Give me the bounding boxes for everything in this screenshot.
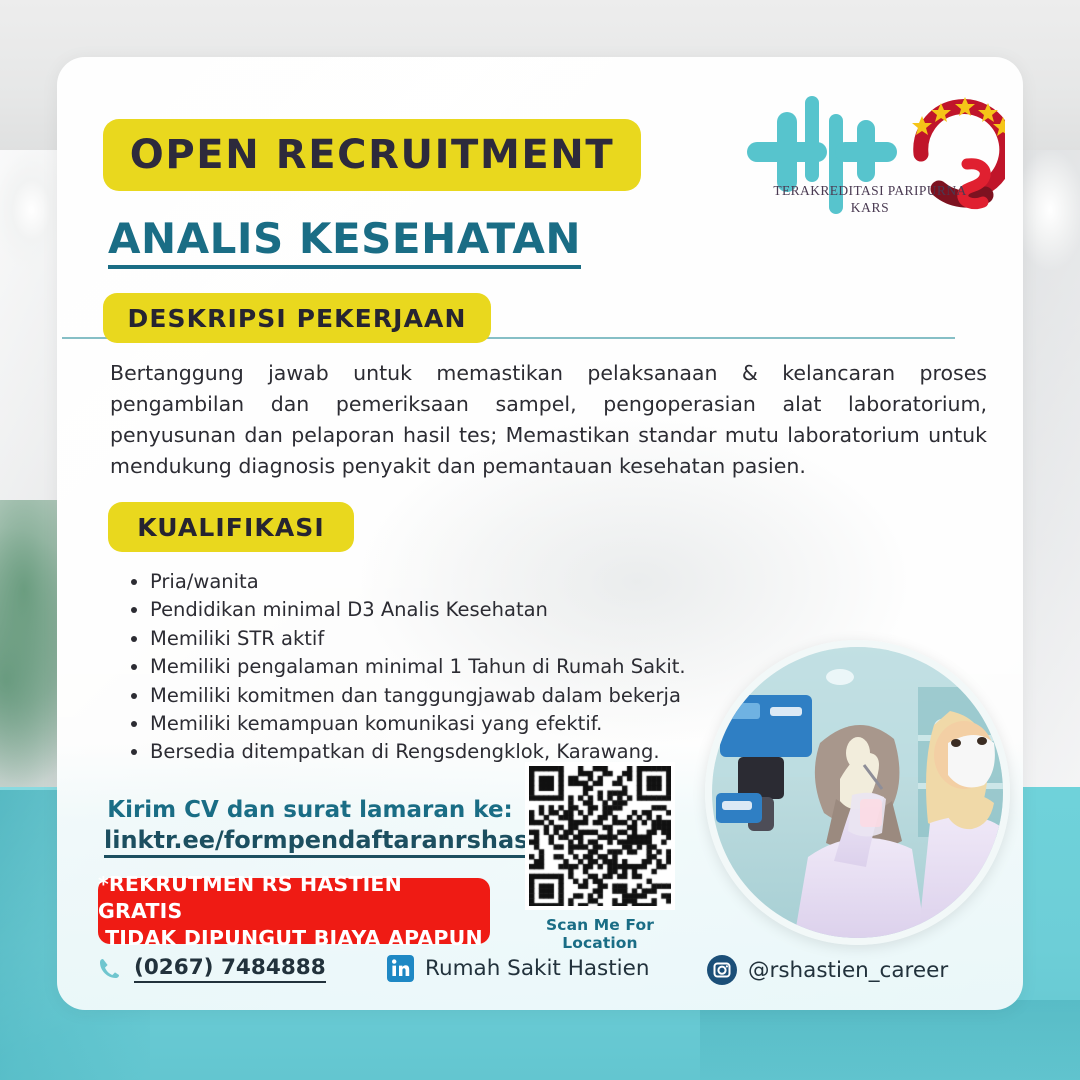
warning-line2: TIDAK DIPUNGUT BIAYA APAPUN	[105, 925, 483, 952]
apply-link[interactable]: linktr.ee/formpendaftaranrshastien	[104, 826, 516, 854]
linkedin-icon	[387, 955, 414, 982]
warning-line1: *REKRUTMEN RS HASTIEN GRATIS	[98, 871, 490, 925]
open-recruitment-label: OPEN RECRUITMENT	[130, 132, 614, 178]
lab-photo-illustration	[712, 647, 1004, 939]
footer-instagram-handle: @rshastien_career	[748, 958, 948, 983]
qualifications-badge: KUALIFIKASI	[108, 502, 354, 552]
open-recruitment-badge: OPEN RECRUITMENT	[103, 119, 641, 191]
footer-linkedin-name: Rumah Sakit Hastien	[425, 956, 650, 981]
recruitment-poster: OPEN RECRUITMENT ANALIS KESEHATAN	[0, 0, 1080, 1080]
footer-phone[interactable]: (0267) 7484888	[97, 955, 326, 983]
page-title: ANALIS KESEHATAN	[108, 214, 581, 269]
qualifications-badge-label: KUALIFIKASI	[137, 513, 325, 542]
list-item: Memiliki komitmen dan tanggungjawab dala…	[126, 682, 766, 710]
apply-instruction: Kirim CV dan surat lamaran ke:	[104, 797, 516, 823]
footer-linkedin[interactable]: Rumah Sakit Hastien	[387, 955, 650, 982]
description-badge: DESKRIPSI PEKERJAAN	[103, 293, 491, 343]
qualifications-list: Pria/wanitaPendidikan minimal D3 Analis …	[126, 568, 766, 767]
footer-phone-number: (0267) 7484888	[134, 955, 326, 983]
list-item: Memiliki STR aktif	[126, 625, 766, 653]
footer-instagram[interactable]: @rshastien_career	[707, 955, 948, 985]
apply-link-text: linktr.ee/formpendaftaranrshastien	[104, 826, 582, 858]
instagram-icon	[707, 955, 737, 985]
kars-caption-line2: KARS	[735, 200, 1005, 217]
background-ceiling-light-right	[1015, 150, 1080, 270]
qr-code-canvas	[529, 766, 671, 906]
kars-caption-line1: TERAKREDITASI PARIPURNA	[735, 183, 1005, 200]
description-badge-label: DESKRIPSI PEKERJAAN	[127, 304, 466, 333]
free-recruitment-warning: *REKRUTMEN RS HASTIEN GRATIS TIDAK DIPUN…	[98, 878, 490, 944]
list-item: Pria/wanita	[126, 568, 766, 596]
list-item: Memiliki kemampuan komunikasi yang efekt…	[126, 710, 766, 738]
qr-caption: Scan Me For Location	[520, 916, 680, 952]
background-teal-shadow	[700, 1000, 1080, 1080]
kars-caption: TERAKREDITASI PARIPURNA KARS	[735, 183, 1005, 217]
lab-technicians-photo	[705, 640, 1010, 945]
list-item: Memiliki pengalaman minimal 1 Tahun di R…	[126, 653, 766, 681]
qr-block: Scan Me For Location	[520, 762, 680, 938]
job-description-text: Bertanggung jawab untuk memastikan pelak…	[110, 358, 987, 482]
phone-icon	[97, 956, 123, 982]
list-item: Pendidikan minimal D3 Analis Kesehatan	[126, 596, 766, 624]
qr-code-icon[interactable]	[525, 762, 675, 910]
